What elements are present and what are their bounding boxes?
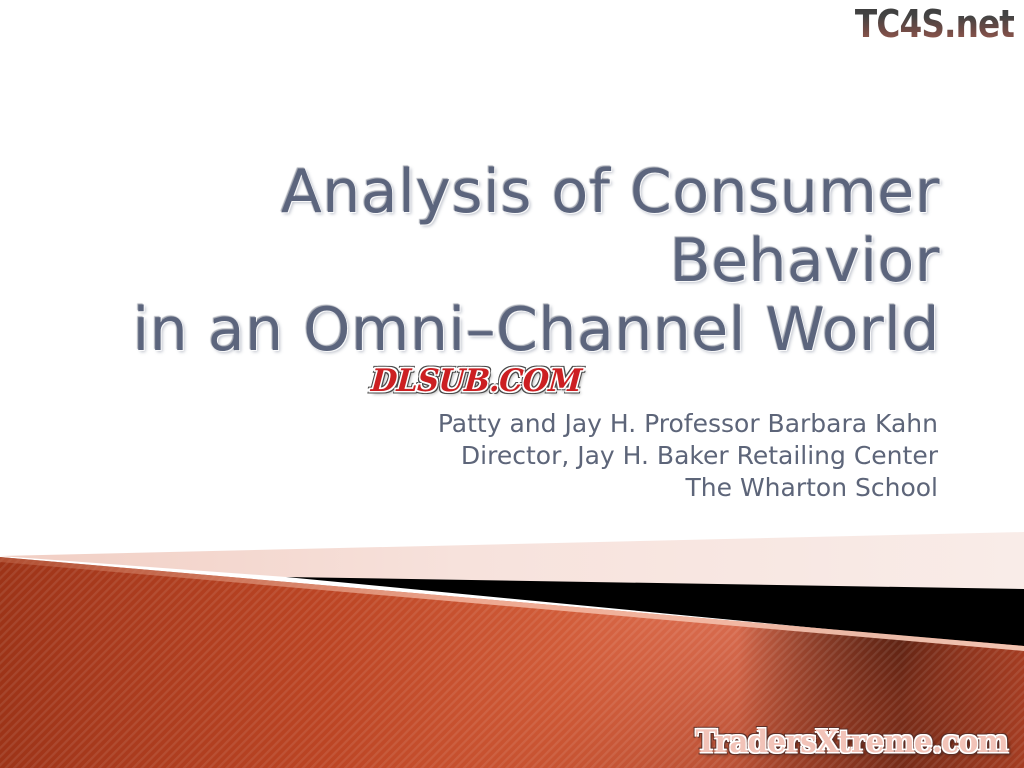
watermark-tradersxtreme-com: TradersXtreme.com [696,724,1008,760]
presentation-slide: Analysis of Consumer Behavior in an Omni… [0,0,1024,768]
pink-sliver-shape [0,532,1024,592]
subtitle-line-institution: The Wharton School [238,472,938,504]
slide-title: Analysis of Consumer Behavior in an Omni… [80,158,940,365]
title-line-2: Behavior [80,227,940,296]
watermark-tc4s-net: TC4S.net [855,2,1014,46]
title-line-3: in an Omni–Channel World [80,296,940,365]
ribbon-edge-highlight [0,557,1024,651]
watermark-dlsub-com: DLSUB.COM [370,363,583,399]
subtitle-line-presenter: Patty and Jay H. Professor Barbara Kahn [238,408,938,440]
black-wedge-shape [286,577,1024,648]
slide-subtitle: Patty and Jay H. Professor Barbara Kahn … [238,408,938,504]
subtitle-line-role: Director, Jay H. Baker Retailing Center [238,440,938,472]
title-line-1: Analysis of Consumer [80,158,940,227]
